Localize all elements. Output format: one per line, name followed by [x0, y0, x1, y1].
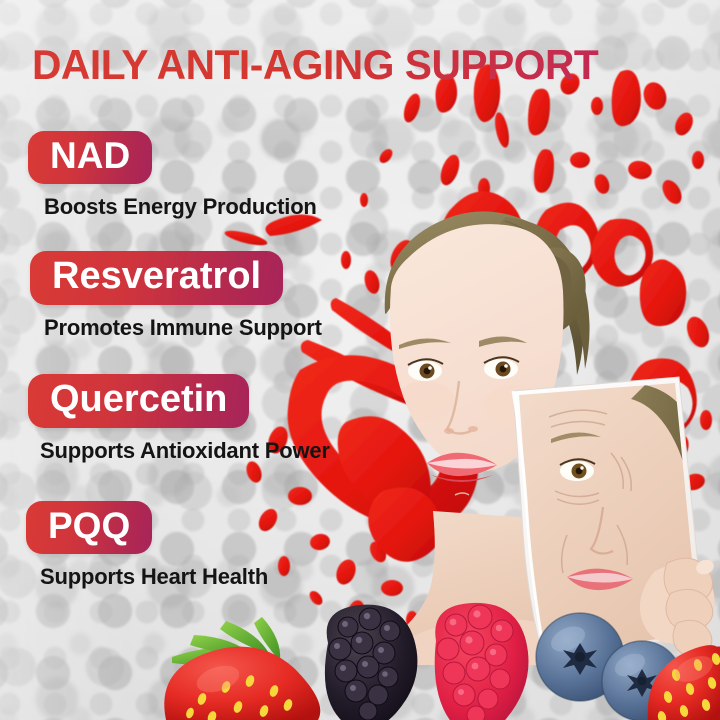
ingredient-description-pqq: Supports Heart Health [0, 564, 480, 590]
ingredient-badge-quercetin: Quercetin [28, 374, 249, 428]
poster: DAILY ANTI-AGING SUPPORT NAD Boosts Ener… [0, 0, 720, 720]
ingredient-pqq: PQQ Supports Heart Health [0, 501, 480, 590]
berries-image [150, 595, 720, 720]
ingredient-description-resveratrol: Promotes Immune Support [0, 315, 480, 341]
ingredient-description-quercetin: Supports Antioxidant Power [0, 438, 480, 464]
page-title: DAILY ANTI-AGING SUPPORT [32, 44, 598, 86]
ingredient-badge-pqq: PQQ [26, 501, 152, 554]
ingredient-quercetin: Quercetin Supports Antioxidant Power [0, 374, 480, 464]
ingredient-nad: NAD Boosts Energy Production [0, 131, 480, 220]
ingredient-badge-nad: NAD [28, 131, 152, 184]
ingredient-description-nad: Boosts Energy Production [0, 194, 480, 220]
ingredient-resveratrol: Resveratrol Promotes Immune Support [0, 251, 480, 341]
ingredient-badge-resveratrol: Resveratrol [30, 251, 283, 305]
